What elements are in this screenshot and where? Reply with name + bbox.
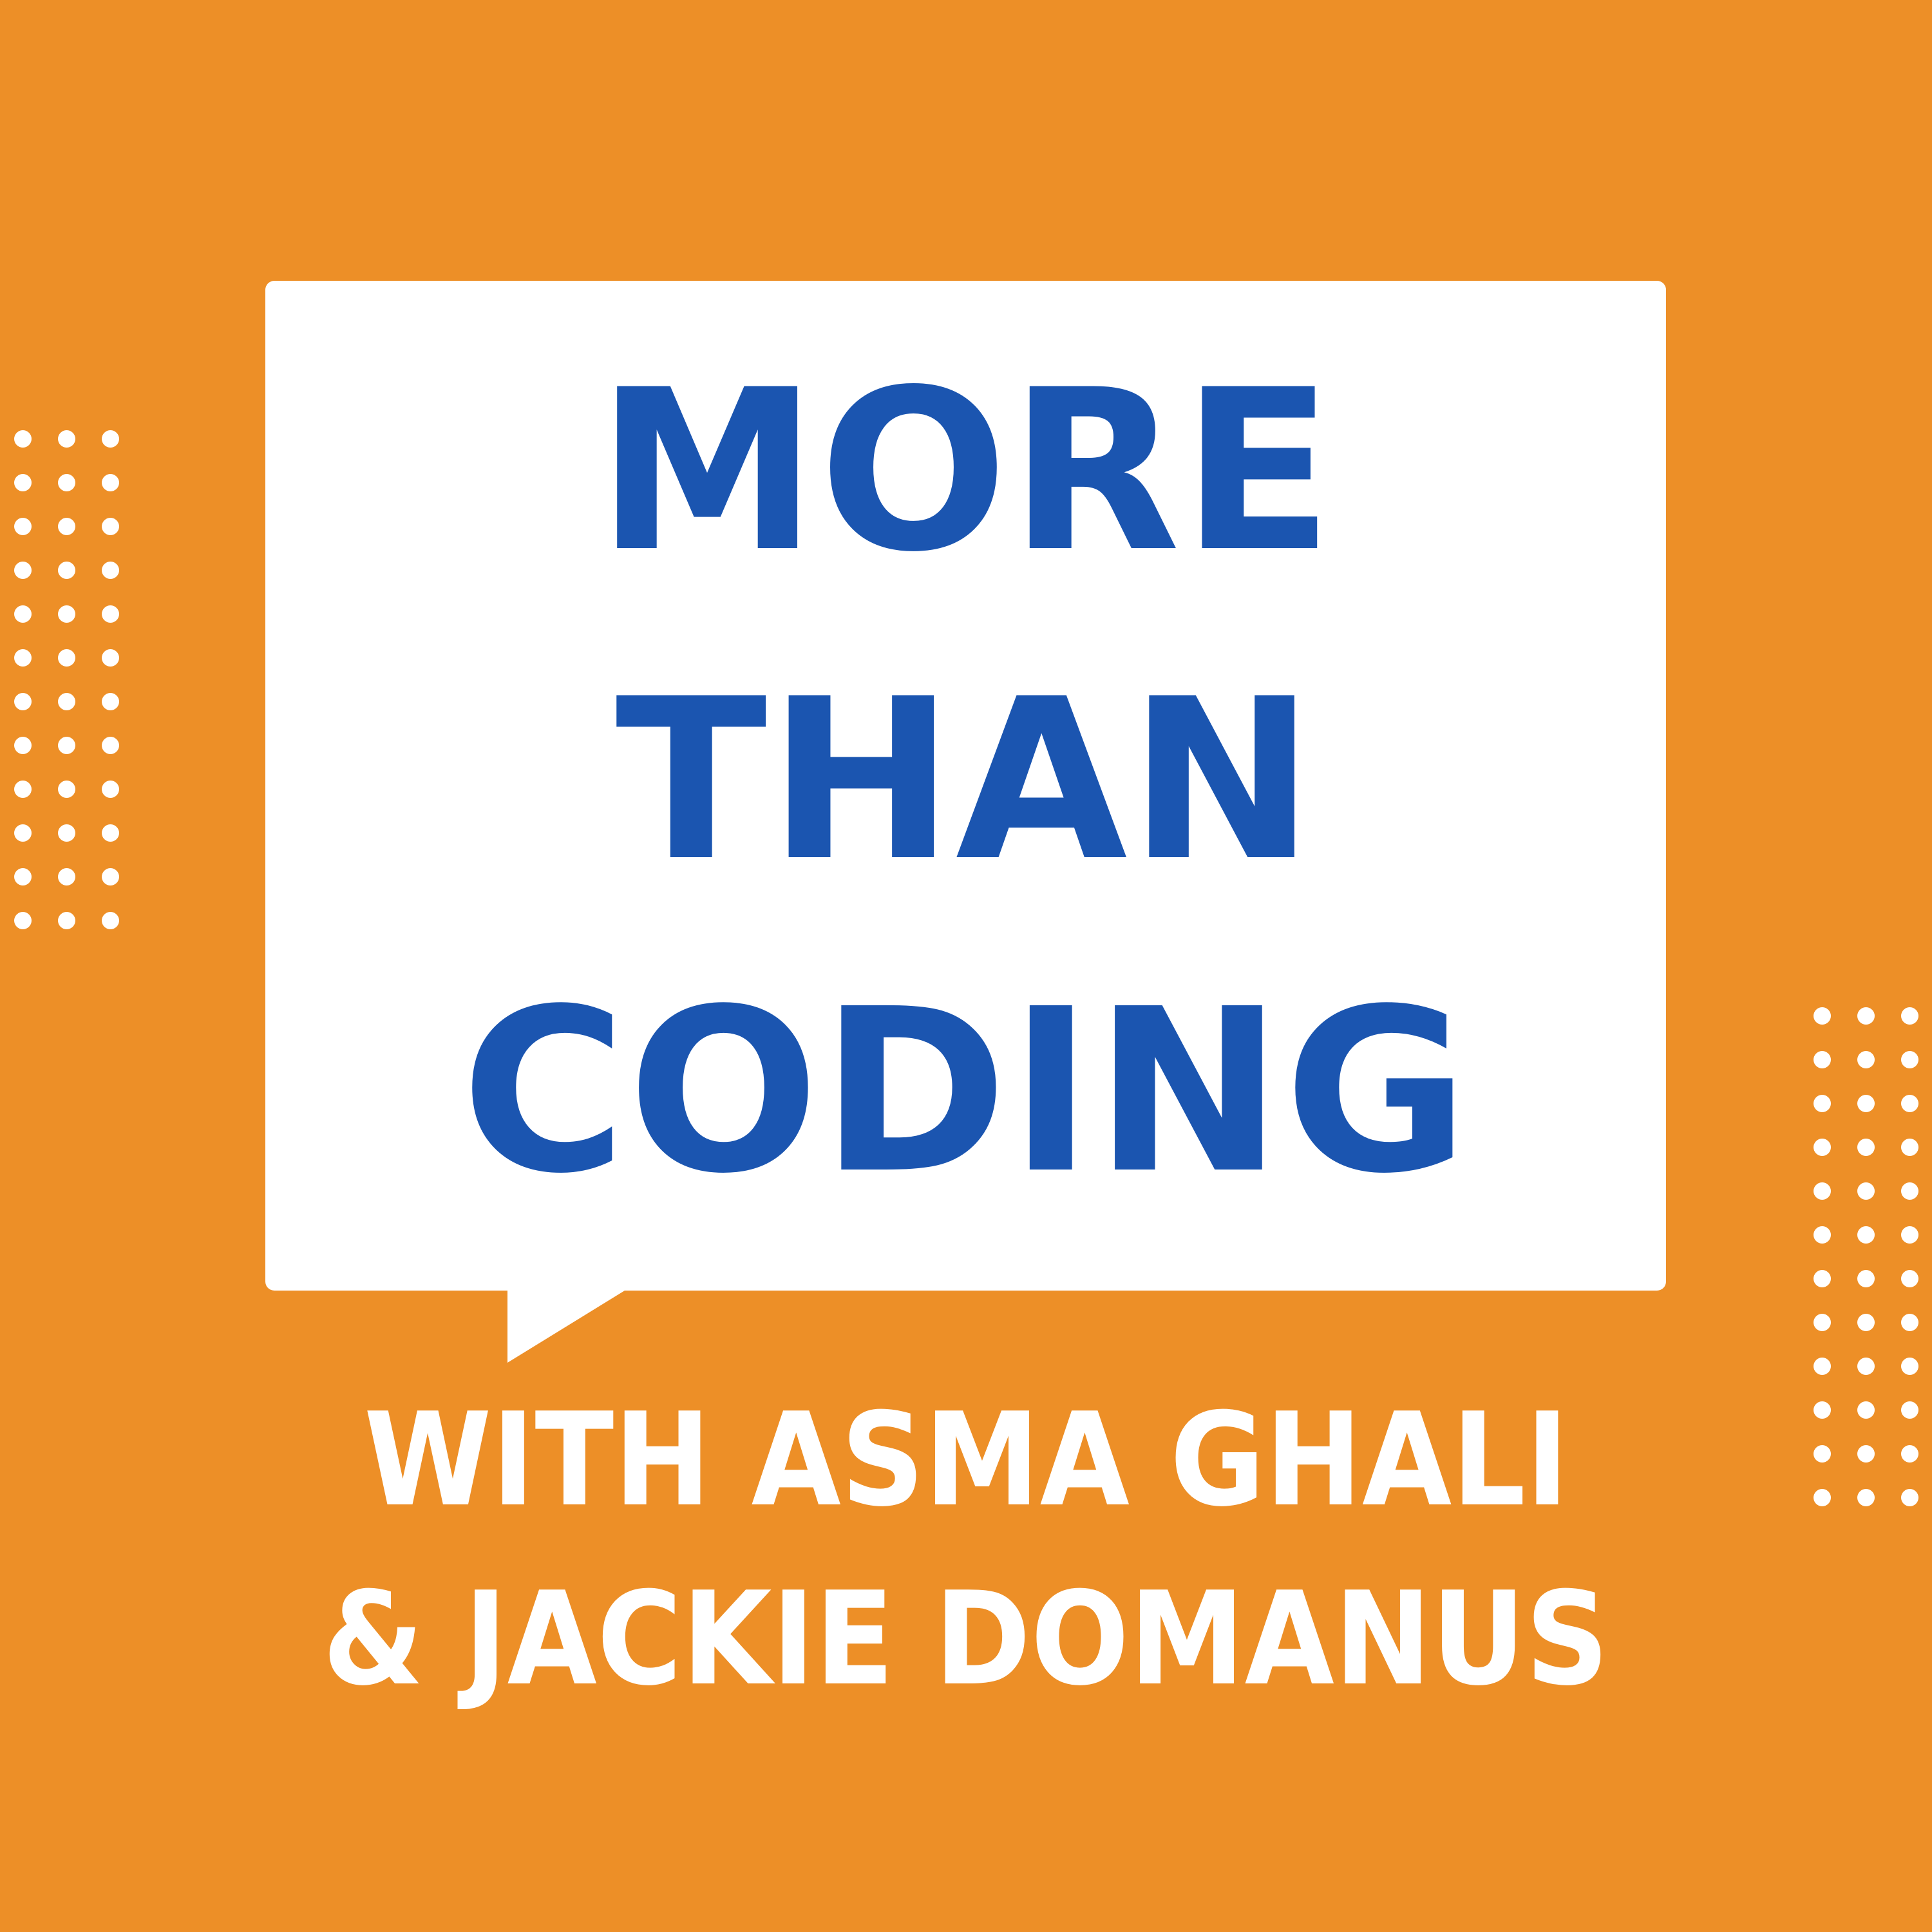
dot (1814, 1314, 1831, 1331)
dot (1857, 1095, 1875, 1112)
dot (1814, 1226, 1831, 1244)
dot (102, 605, 119, 623)
dot (1901, 1358, 1918, 1375)
dot (102, 430, 119, 448)
dot (102, 693, 119, 710)
dot (102, 474, 119, 491)
dot (1901, 1226, 1918, 1244)
podcast-cover-art: MORE THAN CODING WITH ASMA GHALI & JACKI… (0, 0, 1932, 1932)
dot (1857, 1139, 1875, 1156)
dot (1814, 1051, 1831, 1068)
dot (58, 912, 75, 929)
title-line-3: CODING (461, 979, 1470, 1204)
dot (14, 605, 32, 623)
dot (102, 649, 119, 667)
dot (14, 781, 32, 798)
dot (1857, 1226, 1875, 1244)
dot (58, 737, 75, 754)
dot (1901, 1007, 1918, 1025)
dot (58, 562, 75, 579)
dot (102, 781, 119, 798)
dot (14, 474, 32, 491)
dot (1857, 1358, 1875, 1375)
dot (102, 562, 119, 579)
dot (58, 693, 75, 710)
dot (58, 868, 75, 885)
dot (14, 737, 32, 754)
dot (58, 518, 75, 535)
dot (1814, 1139, 1831, 1156)
dot (102, 737, 119, 754)
dot (58, 474, 75, 491)
dot (1901, 1139, 1918, 1156)
podcast-title: MORE THAN CODING (265, 281, 1666, 1291)
dot (58, 781, 75, 798)
dot (58, 605, 75, 623)
subtitle-line-1: WITH ASMA GHALI (363, 1396, 1568, 1525)
dot (1814, 1358, 1831, 1375)
speech-bubble-tail (507, 1288, 625, 1363)
dot (1857, 1314, 1875, 1331)
title-line-2: THAN (616, 670, 1316, 892)
dot (1814, 1182, 1831, 1200)
dot (1901, 1051, 1918, 1068)
dot (14, 868, 32, 885)
dot (1901, 1314, 1918, 1331)
dot (58, 649, 75, 667)
dot (1857, 1270, 1875, 1287)
dot (14, 649, 32, 667)
dot (102, 912, 119, 929)
dot (1857, 1182, 1875, 1200)
dot (14, 562, 32, 579)
dot (14, 430, 32, 448)
dot (58, 430, 75, 448)
podcast-hosts-subtitle: WITH ASMA GHALI & JACKIE DOMANUS (0, 1396, 1932, 1704)
left-dot-grid-decoration (14, 430, 146, 956)
dot (1857, 1007, 1875, 1025)
dot (1901, 1270, 1918, 1287)
dot (14, 693, 32, 710)
dot (102, 824, 119, 842)
dot (14, 518, 32, 535)
title-line-1: MORE (597, 361, 1335, 583)
dot (1901, 1182, 1918, 1200)
dot (58, 824, 75, 842)
dot (102, 868, 119, 885)
dot (1814, 1270, 1831, 1287)
dot (1901, 1095, 1918, 1112)
dot (102, 518, 119, 535)
dot (1814, 1007, 1831, 1025)
subtitle-line-2: & JACKIE DOMANUS (323, 1575, 1609, 1704)
dot (1857, 1051, 1875, 1068)
dot (1814, 1095, 1831, 1112)
dot (14, 824, 32, 842)
dot (14, 912, 32, 929)
